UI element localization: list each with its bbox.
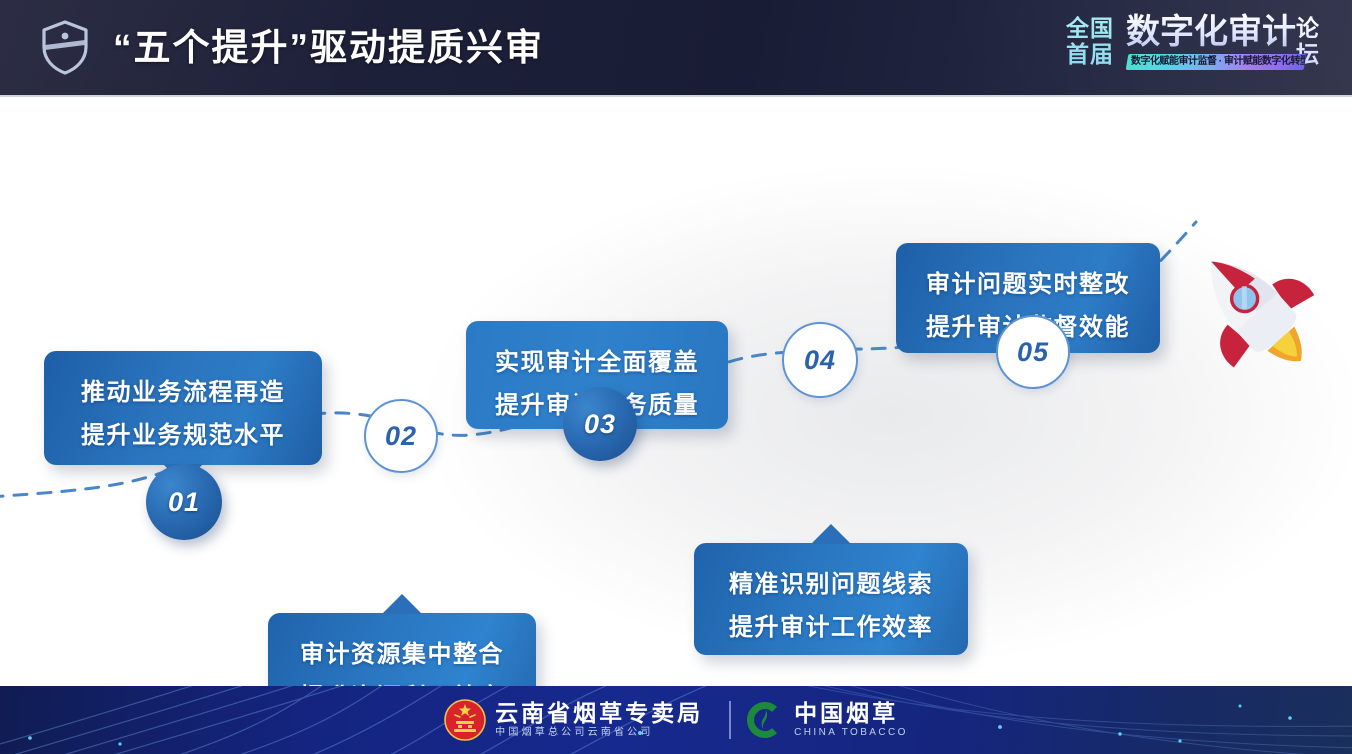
step-circle-02[interactable]: 02 [364, 399, 438, 473]
callout-03-line1: 实现审计全面覆盖 [466, 341, 728, 384]
national-emblem-icon [444, 699, 486, 741]
callout-01-line2: 提升业务规范水平 [44, 414, 322, 457]
tobacco-name: 中国烟草 [794, 701, 908, 726]
forum-logo-left-line1: 全国 [1066, 15, 1124, 41]
callout-02-line2: 提升资源利用效率 [268, 676, 536, 686]
shield-icon [40, 19, 90, 75]
callout-04-pointer [811, 524, 851, 544]
page-footer: 云南省烟草专卖局 中国烟草总公司云南省公司 中国烟草 CHINA TOBACCO [0, 686, 1352, 754]
forum-logo-tagline: 数字化赋能审计监督 · 审计赋能数字化转型 [1131, 55, 1306, 69]
bureau-subname: 中国烟草总公司云南省公司 [495, 726, 703, 740]
brand-divider [729, 701, 731, 739]
callout-02-pointer [382, 594, 422, 614]
china-tobacco-logo-icon [745, 700, 785, 740]
forum-logo: 全国 首届 数字化审计 论 坛 数字化赋能审计监督 · 审计赋能数字化转型 [1044, 11, 1334, 91]
forum-logo-left-line2: 首届 [1066, 41, 1124, 67]
rocket-icon [1184, 239, 1324, 379]
page-title: “五个提升”驱动提质兴审 [113, 20, 544, 76]
callout-05-line1: 审计问题实时整改 [896, 263, 1160, 306]
step-circle-03[interactable]: 03 [563, 387, 637, 461]
tobacco-name-block: 中国烟草 CHINA TOBACCO [794, 701, 908, 739]
callout-02: 审计资源集中整合 提升资源利用效率 [268, 613, 536, 686]
callout-02-line1: 审计资源集中整合 [268, 633, 536, 676]
bureau-name-block: 云南省烟草专卖局 中国烟草总公司云南省公司 [495, 701, 703, 740]
footer-brand-group: 云南省烟草专卖局 中国烟草总公司云南省公司 中国烟草 CHINA TOBACCO [0, 686, 1352, 754]
step-circle-01[interactable]: 01 [146, 464, 222, 540]
callout-04: 精准识别问题线索 提升审计工作效率 [694, 543, 968, 655]
page-header: “五个提升”驱动提质兴审 全国 首届 数字化审计 论 坛 数字化赋能审计监督 ·… [0, 0, 1352, 97]
step-circle-05[interactable]: 05 [996, 315, 1070, 389]
forum-logo-left: 全国 首届 [1066, 15, 1124, 67]
callout-01: 推动业务流程再造 提升业务规范水平 [44, 351, 322, 465]
slide-body: 推动业务流程再造 提升业务规范水平 审计资源集中整合 提升资源利用效率 实现审计… [0, 97, 1352, 686]
bureau-name: 云南省烟草专卖局 [495, 701, 703, 726]
step-circle-04[interactable]: 04 [782, 322, 858, 398]
forum-logo-right-line1: 论 [1296, 15, 1332, 41]
callout-01-line1: 推动业务流程再造 [44, 371, 322, 414]
forum-logo-tagline-bar: 数字化赋能审计监督 · 审计赋能数字化转型 [1126, 54, 1307, 70]
callout-04-line1: 精准识别问题线索 [694, 563, 968, 606]
forum-logo-main: 数字化审计 [1126, 13, 1296, 51]
tobacco-subname: CHINA TOBACCO [794, 726, 908, 739]
callout-04-line2: 提升审计工作效率 [694, 606, 968, 649]
